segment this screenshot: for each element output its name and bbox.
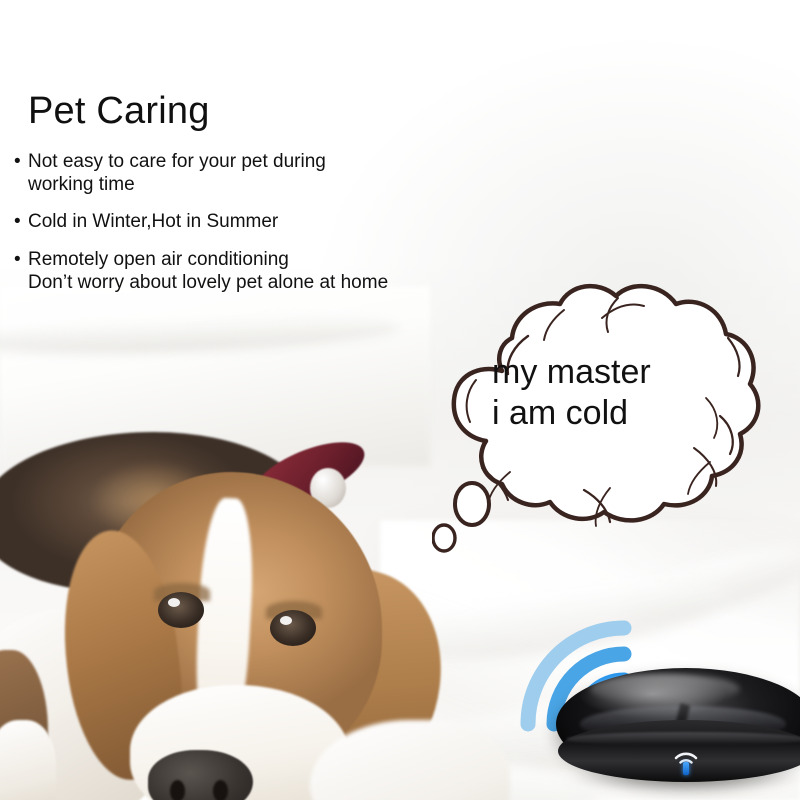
page-title: Pet Caring: [28, 92, 210, 130]
list-item-label: Not easy to care for your pet during wor…: [28, 150, 326, 196]
dog-nostril-right: [213, 780, 228, 800]
status-led: [683, 762, 689, 775]
thought-bubble: my master i am cold: [432, 276, 784, 556]
bullet-marker: •: [14, 150, 28, 174]
poster-canvas: Pet Caring • Not easy to care for your p…: [0, 0, 800, 800]
dog-eye-left: [158, 592, 204, 628]
feature-bullet-list: • Not easy to care for your pet during w…: [14, 150, 484, 308]
thought-bubble-text: my master i am cold: [492, 352, 742, 434]
smart-ir-remote-device[interactable]: [556, 662, 800, 792]
list-item-label: Remotely open air conditioning Don’t wor…: [28, 248, 388, 294]
device-seam: [566, 732, 800, 746]
device-gloss-highlight: [590, 674, 740, 704]
list-item: • Not easy to care for your pet during w…: [14, 150, 484, 196]
list-item: • Cold in Winter,Hot in Summer: [14, 210, 484, 234]
dog-eye-right: [270, 610, 316, 646]
list-item-label: Cold in Winter,Hot in Summer: [28, 210, 278, 233]
dog-nostril-left: [170, 780, 185, 800]
list-item: • Remotely open air conditioning Don’t w…: [14, 248, 484, 294]
dog-photo: [0, 420, 450, 800]
dog-eye-highlight-left: [168, 598, 180, 607]
bullet-marker: •: [14, 248, 28, 272]
bullet-marker: •: [14, 210, 28, 234]
dog-eye-highlight-right: [280, 616, 292, 625]
